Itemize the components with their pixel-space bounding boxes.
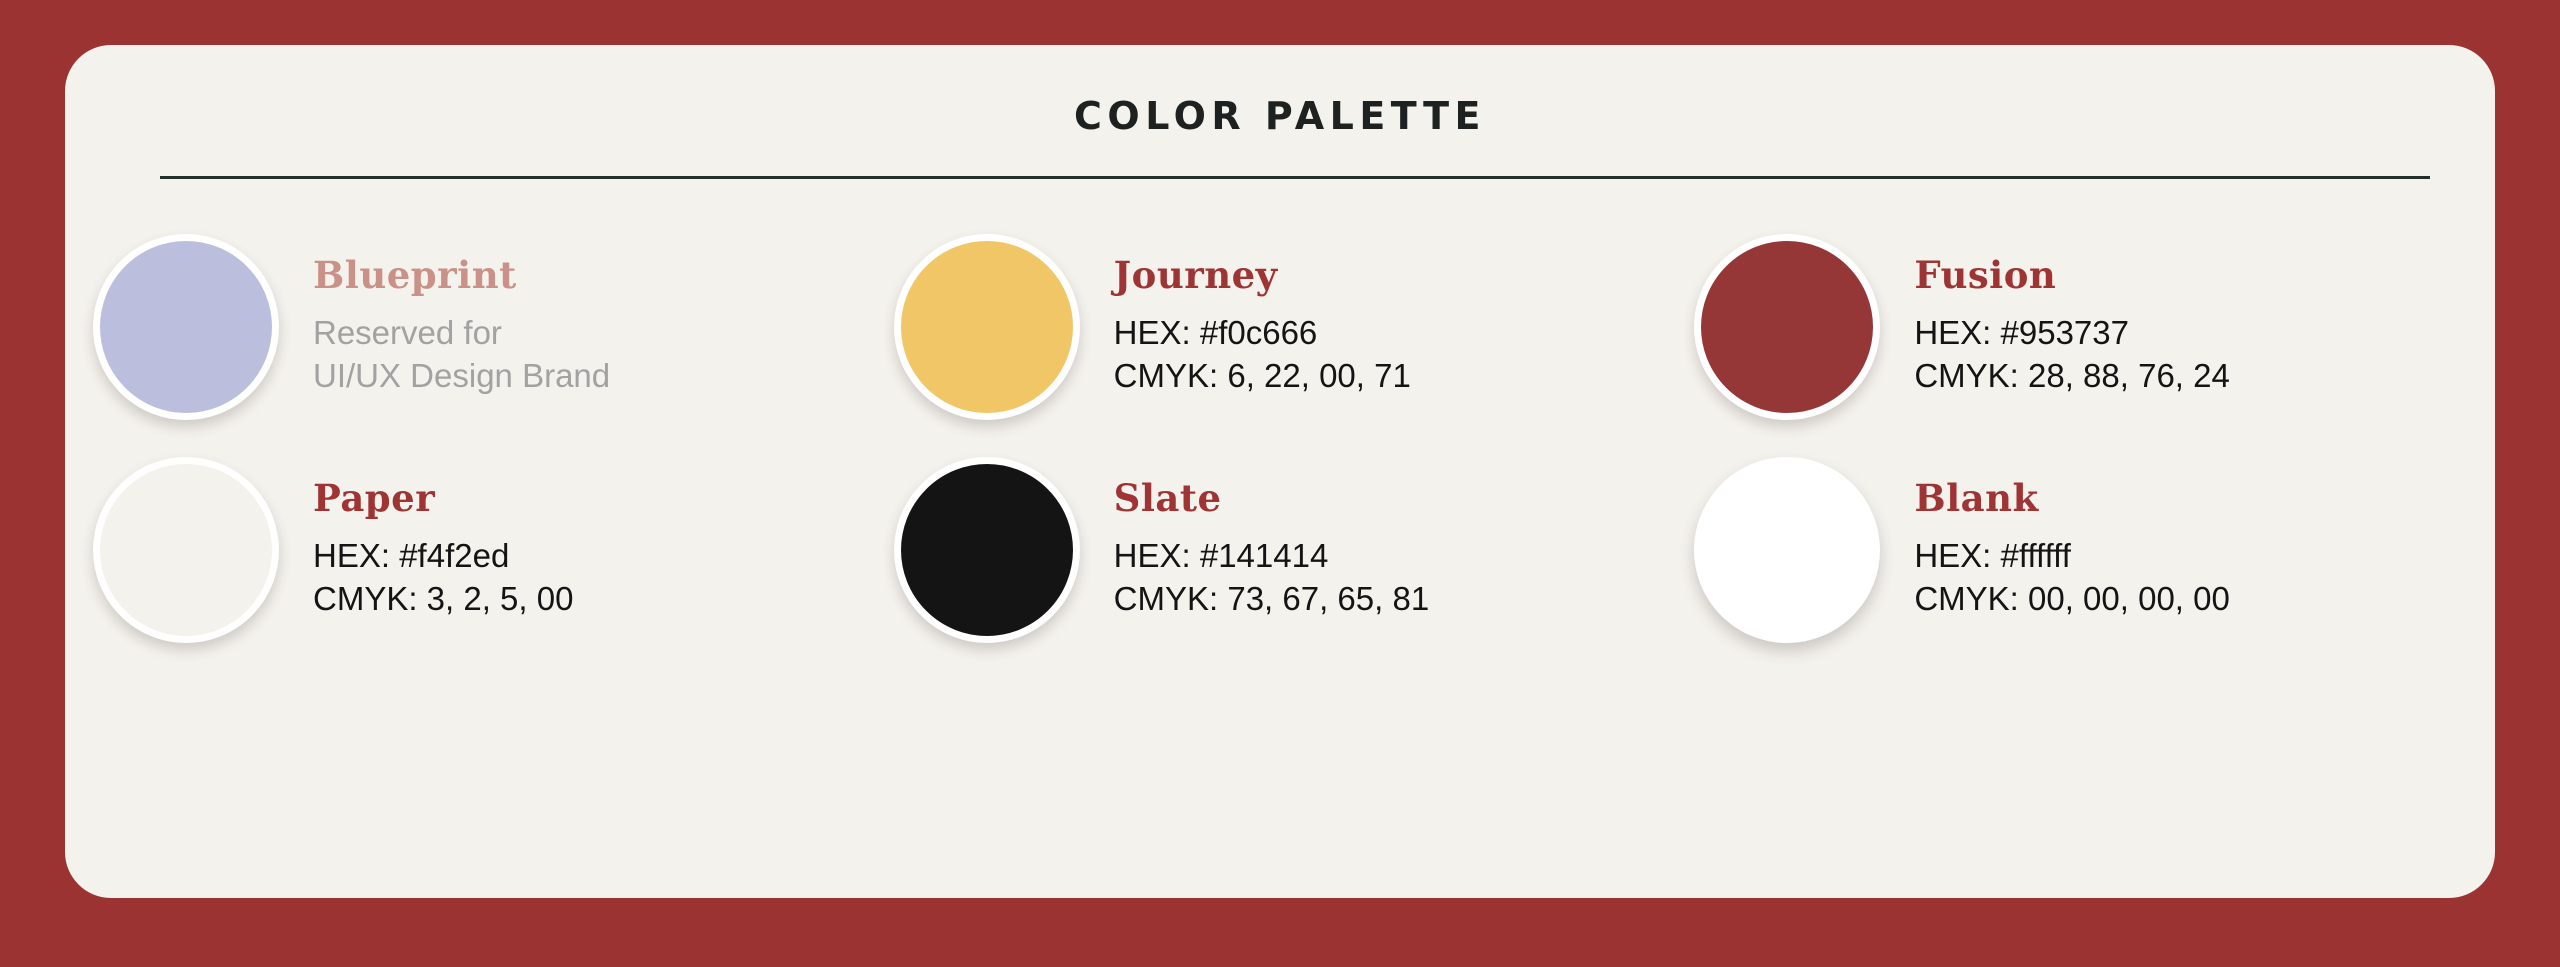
swatch-name: Blank — [1914, 479, 2230, 518]
swatch-line-primary: HEX: #ffffff — [1914, 534, 2230, 578]
swatch-text-block: Fusion HEX: #953737 CMYK: 28, 88, 76, 24 — [1914, 234, 2230, 398]
swatch-circle-wrapper — [93, 457, 279, 643]
swatch-item-paper[interactable]: Paper HEX: #f4f2ed CMYK: 3, 2, 5, 00 — [93, 457, 894, 643]
swatch-text-block: Journey HEX: #f0c666 CMYK: 6, 22, 00, 71 — [1114, 234, 1411, 398]
swatch-name: Slate — [1114, 479, 1430, 518]
swatch-item-slate[interactable]: Slate HEX: #141414 CMYK: 73, 67, 65, 81 — [894, 457, 1695, 643]
swatch-circle-wrapper — [1694, 234, 1880, 420]
swatch-text-block: Blueprint Reserved for UI/UX Design Bran… — [313, 234, 610, 398]
swatch-name: Journey — [1114, 256, 1411, 295]
swatch-line-secondary: UI/UX Design Brand — [313, 354, 610, 398]
swatch-line-primary: HEX: #141414 — [1114, 534, 1430, 578]
swatch-line-primary: HEX: #953737 — [1914, 311, 2230, 355]
swatch-item-journey[interactable]: Journey HEX: #f0c666 CMYK: 6, 22, 00, 71 — [894, 234, 1695, 420]
swatch-line-secondary: CMYK: 6, 22, 00, 71 — [1114, 354, 1411, 398]
swatch-item-fusion[interactable]: Fusion HEX: #953737 CMYK: 28, 88, 76, 24 — [1694, 234, 2495, 420]
swatch-name: Blueprint — [313, 256, 610, 295]
color-swatch-circle[interactable] — [1694, 234, 1880, 420]
swatch-text-block: Blank HEX: #ffffff CMYK: 00, 00, 00, 00 — [1914, 457, 2230, 621]
swatch-line-secondary: CMYK: 28, 88, 76, 24 — [1914, 354, 2230, 398]
color-palette-card: COLOR PALETTE Blueprint Reserved for UI/… — [65, 45, 2495, 898]
color-swatch-circle[interactable] — [894, 457, 1080, 643]
swatch-grid: Blueprint Reserved for UI/UX Design Bran… — [65, 234, 2495, 643]
swatch-text-block: Paper HEX: #f4f2ed CMYK: 3, 2, 5, 00 — [313, 457, 573, 621]
swatch-item-blueprint[interactable]: Blueprint Reserved for UI/UX Design Bran… — [93, 234, 894, 420]
swatch-line-primary: Reserved for — [313, 311, 610, 355]
swatch-line-secondary: CMYK: 73, 67, 65, 81 — [1114, 577, 1430, 621]
swatch-circle-wrapper — [93, 234, 279, 420]
swatch-circle-wrapper — [1694, 457, 1880, 643]
swatch-line-secondary: CMYK: 00, 00, 00, 00 — [1914, 577, 2230, 621]
color-swatch-circle[interactable] — [93, 234, 279, 420]
page-title: COLOR PALETTE — [65, 94, 2495, 138]
swatch-name: Paper — [313, 479, 573, 518]
swatch-line-primary: HEX: #f4f2ed — [313, 534, 573, 578]
color-swatch-circle[interactable] — [93, 457, 279, 643]
swatch-circle-wrapper — [894, 457, 1080, 643]
title-divider — [160, 176, 2430, 179]
swatch-line-secondary: CMYK: 3, 2, 5, 00 — [313, 577, 573, 621]
swatch-name: Fusion — [1914, 256, 2230, 295]
color-swatch-circle[interactable] — [894, 234, 1080, 420]
color-swatch-circle[interactable] — [1694, 457, 1880, 643]
swatch-line-primary: HEX: #f0c666 — [1114, 311, 1411, 355]
swatch-circle-wrapper — [894, 234, 1080, 420]
swatch-item-blank[interactable]: Blank HEX: #ffffff CMYK: 00, 00, 00, 00 — [1694, 457, 2495, 643]
swatch-text-block: Slate HEX: #141414 CMYK: 73, 67, 65, 81 — [1114, 457, 1430, 621]
